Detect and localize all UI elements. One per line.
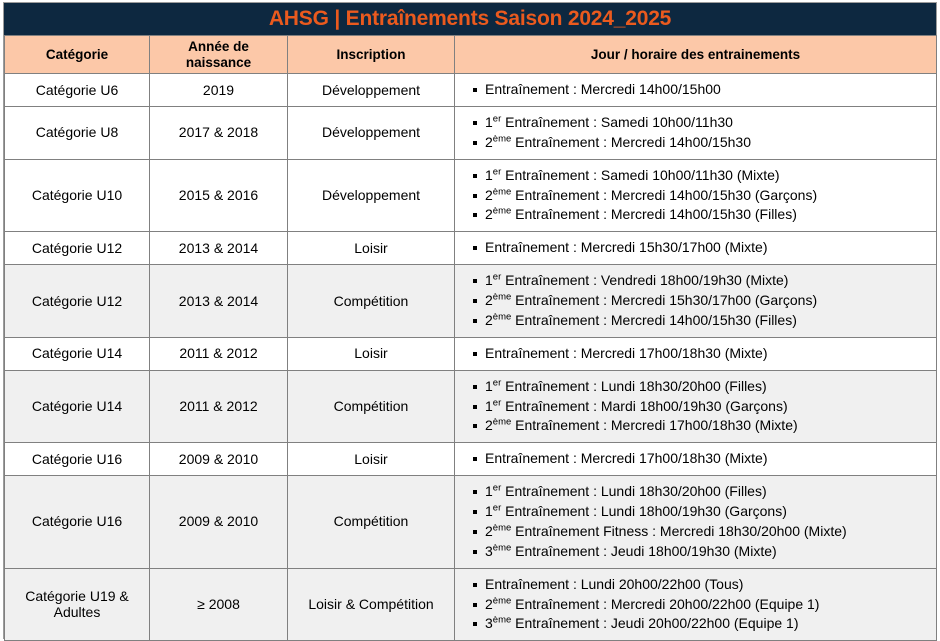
session-item: Entraînement : Mercredi 17h00/18h30 (Mix… <box>473 344 932 364</box>
cell-annee: 2019 <box>150 74 288 107</box>
cell-sessions: 1er Entraînement : Samedi 10h00/11h302èm… <box>455 106 937 159</box>
table-head: Catégorie Année de naissance Inscription… <box>5 36 937 74</box>
session-item: Entraînement : Mercredi 17h00/18h30 (Mix… <box>473 449 932 469</box>
session-ordinal-suffix: ème <box>493 291 511 302</box>
session-ordinal-suffix: ème <box>493 133 511 144</box>
cell-inscription: Loisir <box>288 232 455 265</box>
session-list: 1er Entraînement : Lundi 18h30/20h00 (Fi… <box>459 377 932 437</box>
cell-inscription: Loisir & Compétition <box>288 568 455 641</box>
session-item: 2ème Entraînement : Mercredi 17h00/18h30… <box>473 416 932 436</box>
cell-annee: 2009 & 2010 <box>150 476 288 569</box>
session-item: 1er Entraînement : Lundi 18h00/19h30 (Ga… <box>473 502 932 522</box>
cell-sessions: 1er Entraînement : Lundi 18h30/20h00 (Fi… <box>455 370 937 443</box>
cell-annee: 2013 & 2014 <box>150 265 288 338</box>
session-item: 1er Entraînement : Lundi 18h30/20h00 (Fi… <box>473 377 932 397</box>
session-list: Entraînement : Mercredi 17h00/18h30 (Mix… <box>459 344 932 364</box>
cell-inscription: Compétition <box>288 265 455 338</box>
column-header-categorie: Catégorie <box>5 36 150 74</box>
training-schedule-table: Catégorie Année de naissance Inscription… <box>4 35 937 641</box>
session-item: 2ème Entraînement : Mercredi 20h00/22h00… <box>473 595 932 615</box>
session-ordinal-suffix: er <box>493 482 501 493</box>
table-row: Catégorie U162009 & 2010LoisirEntraîneme… <box>5 443 937 476</box>
table-body: Catégorie U62019DéveloppementEntraînemen… <box>5 74 937 641</box>
session-list: Entraînement : Mercredi 17h00/18h30 (Mix… <box>459 449 932 469</box>
cell-categorie: Catégorie U12 <box>5 232 150 265</box>
cell-inscription: Compétition <box>288 370 455 443</box>
cell-categorie: Catégorie U14 <box>5 337 150 370</box>
session-list: Entraînement : Mercredi 15h30/17h00 (Mix… <box>459 238 932 258</box>
table-row: Catégorie U19 & Adultes≥ 2008Loisir & Co… <box>5 568 937 641</box>
cell-categorie: Catégorie U19 & Adultes <box>5 568 150 641</box>
column-header-annee: Année de naissance <box>150 36 288 74</box>
session-ordinal-suffix: ème <box>493 417 511 428</box>
cell-categorie: Catégorie U14 <box>5 370 150 443</box>
cell-annee: 2013 & 2014 <box>150 232 288 265</box>
cell-inscription: Loisir <box>288 443 455 476</box>
page-title: AHSG | Entraînements Saison 2024_2025 <box>269 7 671 31</box>
cell-categorie: Catégorie U16 <box>5 443 150 476</box>
session-item: 3ème Entraînement : Jeudi 18h00/19h30 (M… <box>473 542 932 562</box>
session-list: 1er Entraînement : Samedi 10h00/11h302èm… <box>459 113 932 153</box>
schedule-page: AHSG | Entraînements Saison 2024_2025 Ca… <box>0 0 940 641</box>
table-row: Catégorie U142011 & 2012Compétition1er E… <box>5 370 937 443</box>
session-item: 1er Entraînement : Samedi 10h00/11h30 (M… <box>473 166 932 186</box>
cell-sessions: 1er Entraînement : Samedi 10h00/11h30 (M… <box>455 159 937 232</box>
cell-sessions: Entraînement : Mercredi 17h00/18h30 (Mix… <box>455 337 937 370</box>
session-item: 3ème Entraînement : Jeudi 20h00/22h00 (E… <box>473 614 932 634</box>
title-bar: AHSG | Entraînements Saison 2024_2025 <box>4 3 936 35</box>
table-row: Catégorie U142011 & 2012LoisirEntraîneme… <box>5 337 937 370</box>
cell-categorie: Catégorie U12 <box>5 265 150 338</box>
table-row: Catégorie U62019DéveloppementEntraînemen… <box>5 74 937 107</box>
session-ordinal-suffix: ème <box>493 311 511 322</box>
table-header-row: Catégorie Année de naissance Inscription… <box>5 36 937 74</box>
session-ordinal-suffix: ème <box>493 186 511 197</box>
session-item: 1er Entraînement : Vendredi 18h00/19h30 … <box>473 271 932 291</box>
cell-categorie: Catégorie U16 <box>5 476 150 569</box>
cell-inscription: Loisir <box>288 337 455 370</box>
session-item: 2ème Entraînement : Mercredi 14h00/15h30… <box>473 311 932 331</box>
session-list: Entraînement : Mercredi 14h00/15h00 <box>459 80 932 100</box>
cell-annee: 2017 & 2018 <box>150 106 288 159</box>
session-ordinal-suffix: ème <box>493 522 511 533</box>
cell-sessions: Entraînement : Mercredi 17h00/18h30 (Mix… <box>455 443 937 476</box>
session-ordinal-suffix: ème <box>493 615 511 626</box>
schedule-frame: AHSG | Entraînements Saison 2024_2025 Ca… <box>3 2 937 639</box>
session-ordinal-suffix: ème <box>493 542 511 553</box>
cell-sessions: 1er Entraînement : Lundi 18h30/20h00 (Fi… <box>455 476 937 569</box>
session-item: 1er Entraînement : Samedi 10h00/11h30 <box>473 113 932 133</box>
session-ordinal-suffix: ème <box>493 206 511 217</box>
session-item: Entraînement : Mercredi 15h30/17h00 (Mix… <box>473 238 932 258</box>
cell-sessions: 1er Entraînement : Vendredi 18h00/19h30 … <box>455 265 937 338</box>
cell-sessions: Entraînement : Lundi 20h00/22h00 (Tous)2… <box>455 568 937 641</box>
session-item: Entraînement : Mercredi 14h00/15h00 <box>473 80 932 100</box>
cell-sessions: Entraînement : Mercredi 14h00/15h00 <box>455 74 937 107</box>
column-header-inscription: Inscription <box>288 36 455 74</box>
table-row: Catégorie U82017 & 2018Développement1er … <box>5 106 937 159</box>
session-item: 1er Entraînement : Mardi 18h00/19h30 (Ga… <box>473 397 932 417</box>
session-item: 2ème Entraînement Fitness : Mercredi 18h… <box>473 522 932 542</box>
session-ordinal-suffix: er <box>493 377 501 388</box>
session-item: 2ème Entraînement : Mercredi 14h00/15h30… <box>473 186 932 206</box>
session-list: 1er Entraînement : Samedi 10h00/11h30 (M… <box>459 166 932 226</box>
session-item: 2ème Entraînement : Mercredi 14h00/15h30… <box>473 205 932 225</box>
session-item: Entraînement : Lundi 20h00/22h00 (Tous) <box>473 575 932 595</box>
session-item: 2ème Entraînement : Mercredi 15h30/17h00… <box>473 291 932 311</box>
session-ordinal-suffix: er <box>493 271 501 282</box>
table-row: Catégorie U122013 & 2014Compétition1er E… <box>5 265 937 338</box>
session-list: 1er Entraînement : Lundi 18h30/20h00 (Fi… <box>459 482 932 562</box>
session-ordinal-suffix: er <box>493 397 501 408</box>
cell-annee: 2015 & 2016 <box>150 159 288 232</box>
cell-inscription: Développement <box>288 159 455 232</box>
cell-annee: ≥ 2008 <box>150 568 288 641</box>
cell-categorie: Catégorie U8 <box>5 106 150 159</box>
session-ordinal-suffix: ème <box>493 595 511 606</box>
session-item: 1er Entraînement : Lundi 18h30/20h00 (Fi… <box>473 482 932 502</box>
column-header-jour-horaire: Jour / horaire des entrainements <box>455 36 937 74</box>
table-row: Catégorie U102015 & 2016Développement1er… <box>5 159 937 232</box>
cell-categorie: Catégorie U10 <box>5 159 150 232</box>
table-row: Catégorie U162009 & 2010Compétition1er E… <box>5 476 937 569</box>
session-list: 1er Entraînement : Vendredi 18h00/19h30 … <box>459 271 932 331</box>
session-ordinal-suffix: er <box>493 113 501 124</box>
cell-annee: 2009 & 2010 <box>150 443 288 476</box>
session-list: Entraînement : Lundi 20h00/22h00 (Tous)2… <box>459 575 932 635</box>
cell-sessions: Entraînement : Mercredi 15h30/17h00 (Mix… <box>455 232 937 265</box>
cell-inscription: Compétition <box>288 476 455 569</box>
table-row: Catégorie U122013 & 2014LoisirEntraîneme… <box>5 232 937 265</box>
cell-categorie: Catégorie U6 <box>5 74 150 107</box>
session-ordinal-suffix: er <box>493 502 501 513</box>
cell-inscription: Développement <box>288 74 455 107</box>
cell-annee: 2011 & 2012 <box>150 370 288 443</box>
session-ordinal-suffix: er <box>493 166 501 177</box>
cell-inscription: Développement <box>288 106 455 159</box>
cell-annee: 2011 & 2012 <box>150 337 288 370</box>
session-item: 2ème Entraînement : Mercredi 14h00/15h30 <box>473 133 932 153</box>
